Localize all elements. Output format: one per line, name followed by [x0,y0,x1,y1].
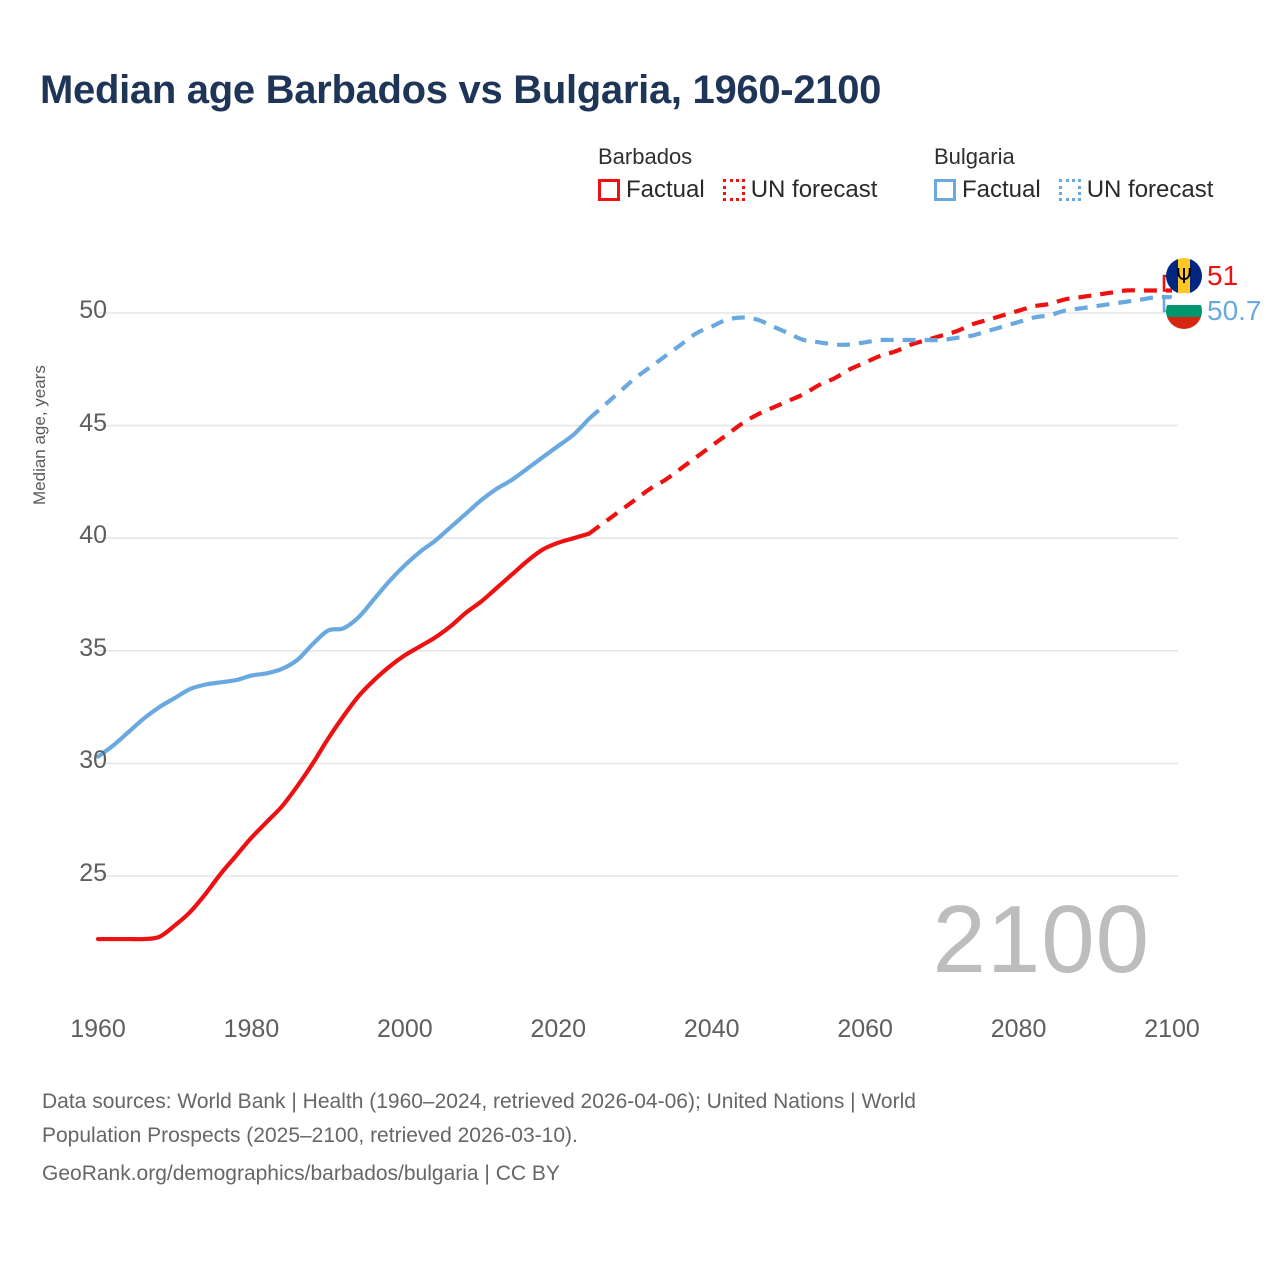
end-value-bulgaria: 50.7 [1207,295,1262,327]
x-axis-tick-label: 1980 [224,1015,280,1044]
barbados-flag-icon: Ψ [1166,258,1202,294]
x-axis-tick-label: 2100 [1144,1015,1200,1044]
bulgaria-flag-icon [1166,293,1202,329]
chart-page: Median age Barbados vs Bulgaria, 1960-21… [0,0,1280,1280]
x-axis-tick-label: 1960 [70,1015,126,1044]
x-axis-tick-label: 2020 [530,1015,586,1044]
end-label-barbados: Ψ 51 [1166,258,1238,294]
x-axis-tick-label: 2060 [837,1015,893,1044]
footer-line-1: Data sources: World Bank | Health (1960–… [42,1085,1202,1119]
y-axis-tick-label: 25 [79,859,107,888]
end-label-bulgaria: 50.7 [1166,293,1262,329]
y-axis-tick-label: 45 [79,409,107,438]
footer-line-2: Population Prospects (2025–2100, retriev… [42,1119,1202,1153]
footer-sources: Data sources: World Bank | Health (1960–… [42,1085,1202,1191]
y-axis-tick-label: 30 [79,746,107,775]
y-axis-tick-label: 35 [79,634,107,663]
series-barbados [98,290,1172,939]
footer-line-3[interactable]: GeoRank.org/demographics/barbados/bulgar… [42,1157,1202,1191]
y-axis-tick-label: 40 [79,521,107,550]
x-axis-tick-label: 2000 [377,1015,433,1044]
end-value-barbados: 51 [1207,260,1238,292]
x-axis-tick-label: 2040 [684,1015,740,1044]
x-axis-tick-label: 2080 [991,1015,1047,1044]
y-axis-tick-label: 50 [79,296,107,325]
series-bulgaria [98,297,1172,757]
